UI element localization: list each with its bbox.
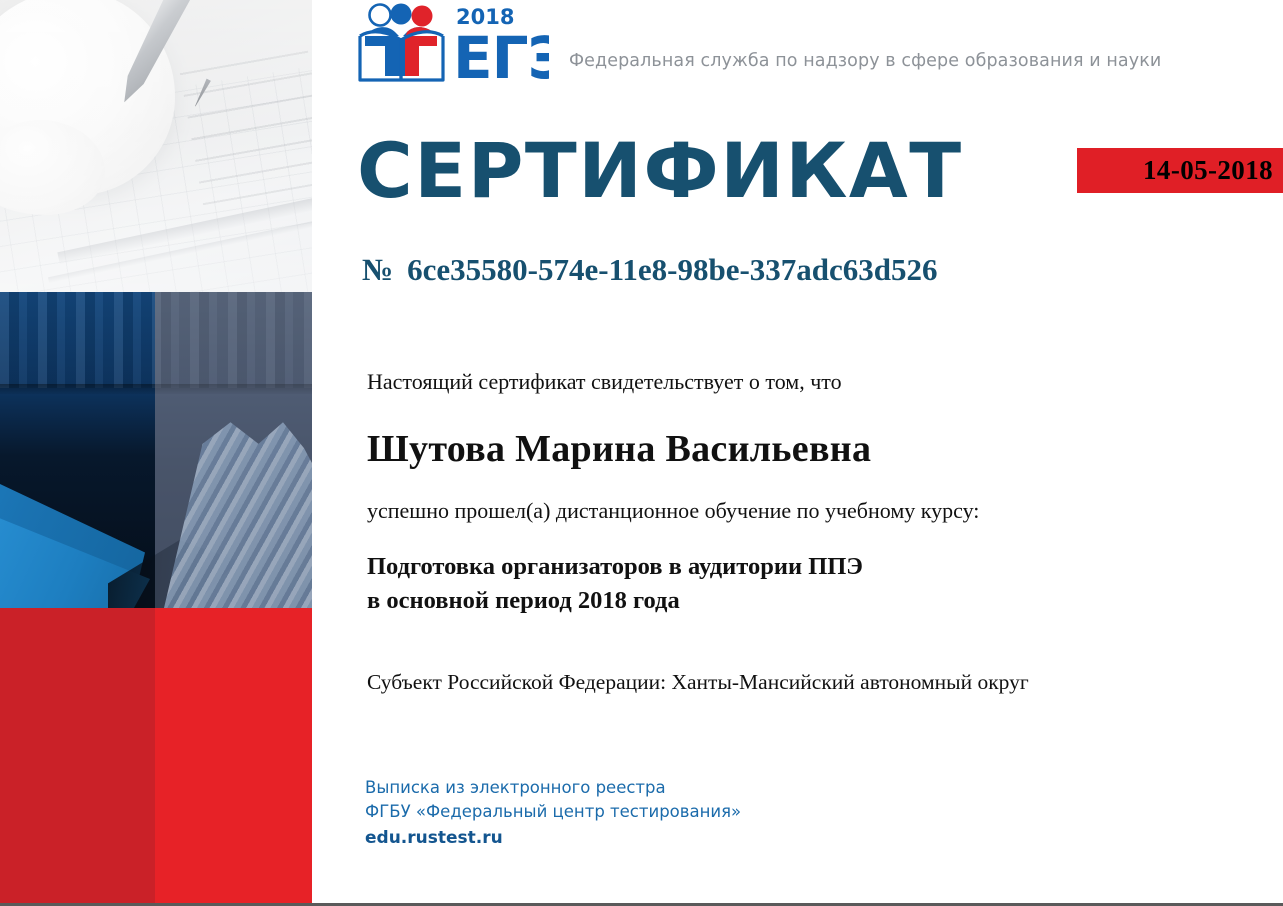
- course-title-line-2: в основной период 2018 года: [367, 584, 1257, 618]
- photo-fade-overlay: [0, 0, 312, 292]
- course-title-line-1: Подготовка организаторов в аудитории ППЭ: [367, 550, 1257, 584]
- recipient-name: Шутова Марина Васильевна: [367, 427, 1257, 473]
- logo-ege-text: ЕГЭ: [453, 24, 549, 84]
- organization-name: Федеральная служба по надзору в сфере об…: [569, 51, 1161, 71]
- red-block-left: [0, 608, 155, 903]
- book-right-tint-overlay: [155, 292, 312, 608]
- ege-logo: 2018 ЕГЭ: [357, 2, 549, 84]
- open-book-photo: [0, 292, 312, 608]
- certificate-number-value: 6ce35580-574e-11e8-98be-337adc63d526: [407, 252, 937, 287]
- page-title: СЕРТИФИКАТ: [357, 133, 963, 209]
- footer-line-1: Выписка из электронного реестра: [365, 776, 741, 800]
- certificate-footer: Выписка из электронного реестра ФГБУ «Фе…: [365, 776, 741, 850]
- red-block-right: [155, 608, 312, 903]
- completion-line: успешно прошел(а) дистанционное обучение…: [367, 498, 1257, 524]
- red-color-block: [0, 608, 312, 903]
- region-line: Субъект Российской Федерации: Ханты-Манс…: [367, 670, 1257, 695]
- decorative-sidebar: [0, 0, 312, 903]
- certificate-page: 2018 ЕГЭ Федеральная служба по надзору в…: [0, 0, 1283, 906]
- intro-line: Настоящий сертификат свидетельствует о т…: [367, 368, 1257, 397]
- course-title: Подготовка организаторов в аудитории ППЭ…: [367, 550, 1257, 618]
- footer-website[interactable]: edu.rustest.ru: [365, 826, 741, 851]
- issue-date-badge: 14-05-2018: [1077, 148, 1283, 193]
- footer-line-2: ФГБУ «Федеральный центр тестирования»: [365, 800, 741, 824]
- certificate-number: №6ce35580-574e-11e8-98be-337adc63d526: [362, 252, 938, 288]
- certificate-content: 2018 ЕГЭ Федеральная служба по надзору в…: [312, 0, 1283, 906]
- certificate-body: Настоящий сертификат свидетельствует о т…: [367, 368, 1257, 695]
- exam-answer-sheet-photo: [0, 0, 312, 292]
- number-sign: №: [362, 252, 393, 287]
- certificate-header: 2018 ЕГЭ Федеральная служба по надзору в…: [357, 2, 1161, 84]
